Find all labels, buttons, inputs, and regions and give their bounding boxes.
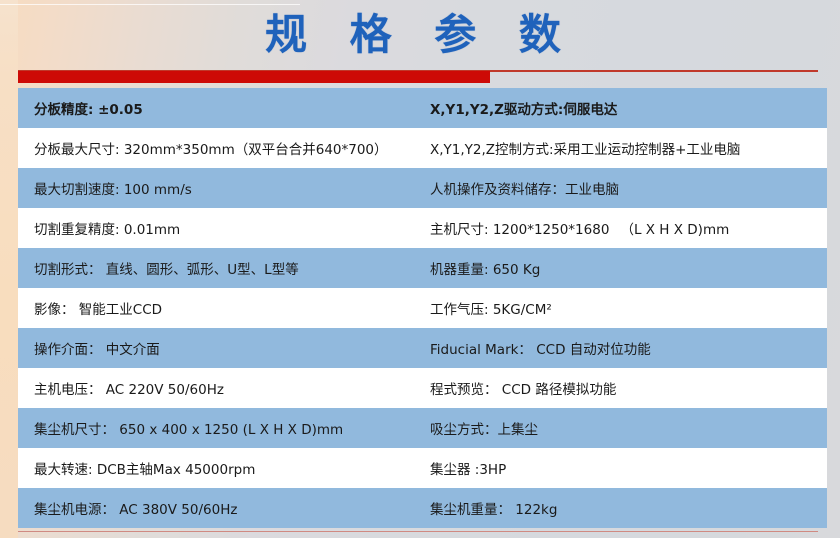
spec-cell-left: 最大转速: DCB主轴Max 45000rpm [18, 448, 414, 488]
page-title: 规 格 参 数 [0, 8, 840, 62]
table-row: 切割形式： 直线、圆形、弧形、U型、L型等机器重量: 650 Kg [18, 248, 827, 288]
left-edge-band [0, 0, 18, 538]
table-row: 切割重复精度: 0.01mm主机尺寸: 1200*1250*1680 （L X … [18, 208, 827, 248]
table-row: 集尘机电源： AC 380V 50/60Hz集尘机重量： 122kg [18, 488, 827, 528]
table-row: 集尘机尺寸： 650 x 400 x 1250 (L X H X D)mm吸尘方… [18, 408, 827, 448]
table-row: 操作介面： 中文介面Fiducial Mark： CCD 自动对位功能 [18, 328, 827, 368]
specification-table: 分板精度: ±0.05X,Y1,Y2,Z驱动方式:伺服电达分板最大尺寸: 320… [18, 88, 827, 528]
table-row: 影像： 智能工业CCD工作气压: 5KG/CM² [18, 288, 827, 328]
spec-cell-left: 分板精度: ±0.05 [18, 88, 414, 128]
red-rule-thick [18, 71, 490, 83]
spec-cell-left: 影像： 智能工业CCD [18, 288, 414, 328]
top-hairline-divider [0, 4, 300, 5]
specification-table-body: 分板精度: ±0.05X,Y1,Y2,Z驱动方式:伺服电达分板最大尺寸: 320… [18, 88, 827, 528]
table-row: 分板精度: ±0.05X,Y1,Y2,Z驱动方式:伺服电达 [18, 88, 827, 128]
spec-cell-right: 集尘器 :3HP [414, 448, 827, 488]
spec-cell-left: 主机电压： AC 220V 50/60Hz [18, 368, 414, 408]
table-row: 主机电压： AC 220V 50/60Hz程式预览： CCD 路径模拟功能 [18, 368, 827, 408]
spec-cell-right: X,Y1,Y2,Z驱动方式:伺服电达 [414, 88, 827, 128]
spec-cell-left: 分板最大尺寸: 320mm*350mm（双平台合并640*700） [18, 128, 414, 168]
spec-cell-right: 程式预览： CCD 路径模拟功能 [414, 368, 827, 408]
spec-cell-right: Fiducial Mark： CCD 自动对位功能 [414, 328, 827, 368]
spec-cell-right: 集尘机重量： 122kg [414, 488, 827, 528]
spec-cell-right: 主机尺寸: 1200*1250*1680 （L X H X D)mm [414, 208, 827, 248]
spec-cell-right: X,Y1,Y2,Z控制方式:采用工业运动控制器+工业电脑 [414, 128, 827, 168]
spec-cell-right: 机器重量: 650 Kg [414, 248, 827, 288]
spec-cell-right: 工作气压: 5KG/CM² [414, 288, 827, 328]
spec-cell-left: 切割形式： 直线、圆形、弧形、U型、L型等 [18, 248, 414, 288]
spec-cell-left: 切割重复精度: 0.01mm [18, 208, 414, 248]
spec-cell-left: 集尘机电源： AC 380V 50/60Hz [18, 488, 414, 528]
spec-sheet-page: 规 格 参 数 分板精度: ±0.05X,Y1,Y2,Z驱动方式:伺服电达分板最… [0, 0, 840, 538]
bottom-red-rule [18, 531, 818, 532]
spec-cell-left: 操作介面： 中文介面 [18, 328, 414, 368]
table-row: 最大切割速度: 100 mm/s人机操作及资料储存：工业电脑 [18, 168, 827, 208]
table-row: 分板最大尺寸: 320mm*350mm（双平台合并640*700）X,Y1,Y2… [18, 128, 827, 168]
table-row: 最大转速: DCB主轴Max 45000rpm集尘器 :3HP [18, 448, 827, 488]
spec-cell-right: 人机操作及资料储存：工业电脑 [414, 168, 827, 208]
spec-cell-right: 吸尘方式：上集尘 [414, 408, 827, 448]
spec-cell-left: 最大切割速度: 100 mm/s [18, 168, 414, 208]
spec-cell-left: 集尘机尺寸： 650 x 400 x 1250 (L X H X D)mm [18, 408, 414, 448]
